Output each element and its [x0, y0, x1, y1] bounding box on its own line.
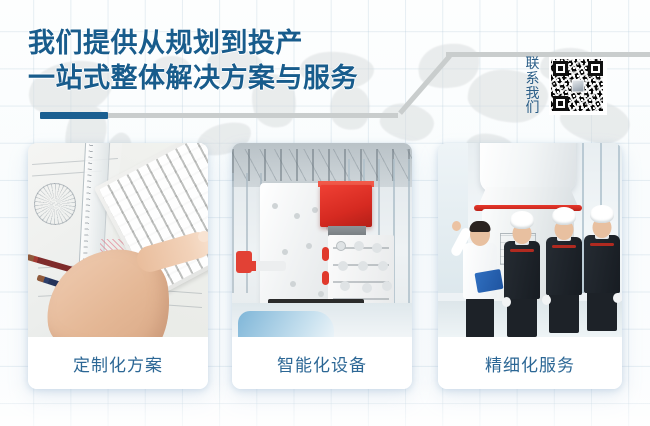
headline-line-1: 我们提供从规划到投产 [28, 26, 358, 61]
engineer-figure [460, 209, 500, 337]
card-caption-text: 精细化服务 [485, 351, 575, 376]
promo-banner: 我们提供从规划到投产 一站式整体解决方案与服务 联系我们 [0, 0, 650, 426]
card-caption-text: 智能化设备 [277, 351, 367, 376]
worker-figure [580, 199, 622, 337]
divider-rule-diagonal [393, 52, 457, 118]
card-caption: 定制化方案 [28, 337, 208, 389]
headline: 我们提供从规划到投产 一站式整体解决方案与服务 [28, 26, 358, 96]
industrial-crusher-machine-photo [232, 143, 412, 337]
feature-card[interactable]: 定制化方案 [28, 143, 208, 389]
engineer-workers-mill-photo [438, 143, 622, 337]
qr-code-icon[interactable] [549, 57, 607, 115]
feature-card-list: 定制化方案 [0, 143, 650, 393]
blueprint-keyboard-hand-photo [28, 143, 208, 337]
card-caption-text: 定制化方案 [73, 351, 163, 376]
headline-line-2: 一站式整体解决方案与服务 [28, 61, 358, 96]
feature-card[interactable]: 精细化服务 [438, 143, 622, 389]
contact-label: 联系我们 [524, 57, 541, 116]
divider-rule-left [108, 113, 398, 118]
card-caption: 精细化服务 [438, 337, 622, 389]
card-caption: 智能化设备 [232, 337, 412, 389]
contact-block: 联系我们 [524, 57, 607, 116]
feature-card[interactable]: 智能化设备 [232, 143, 412, 389]
accent-bar [40, 112, 108, 119]
worker-figure [500, 205, 544, 337]
